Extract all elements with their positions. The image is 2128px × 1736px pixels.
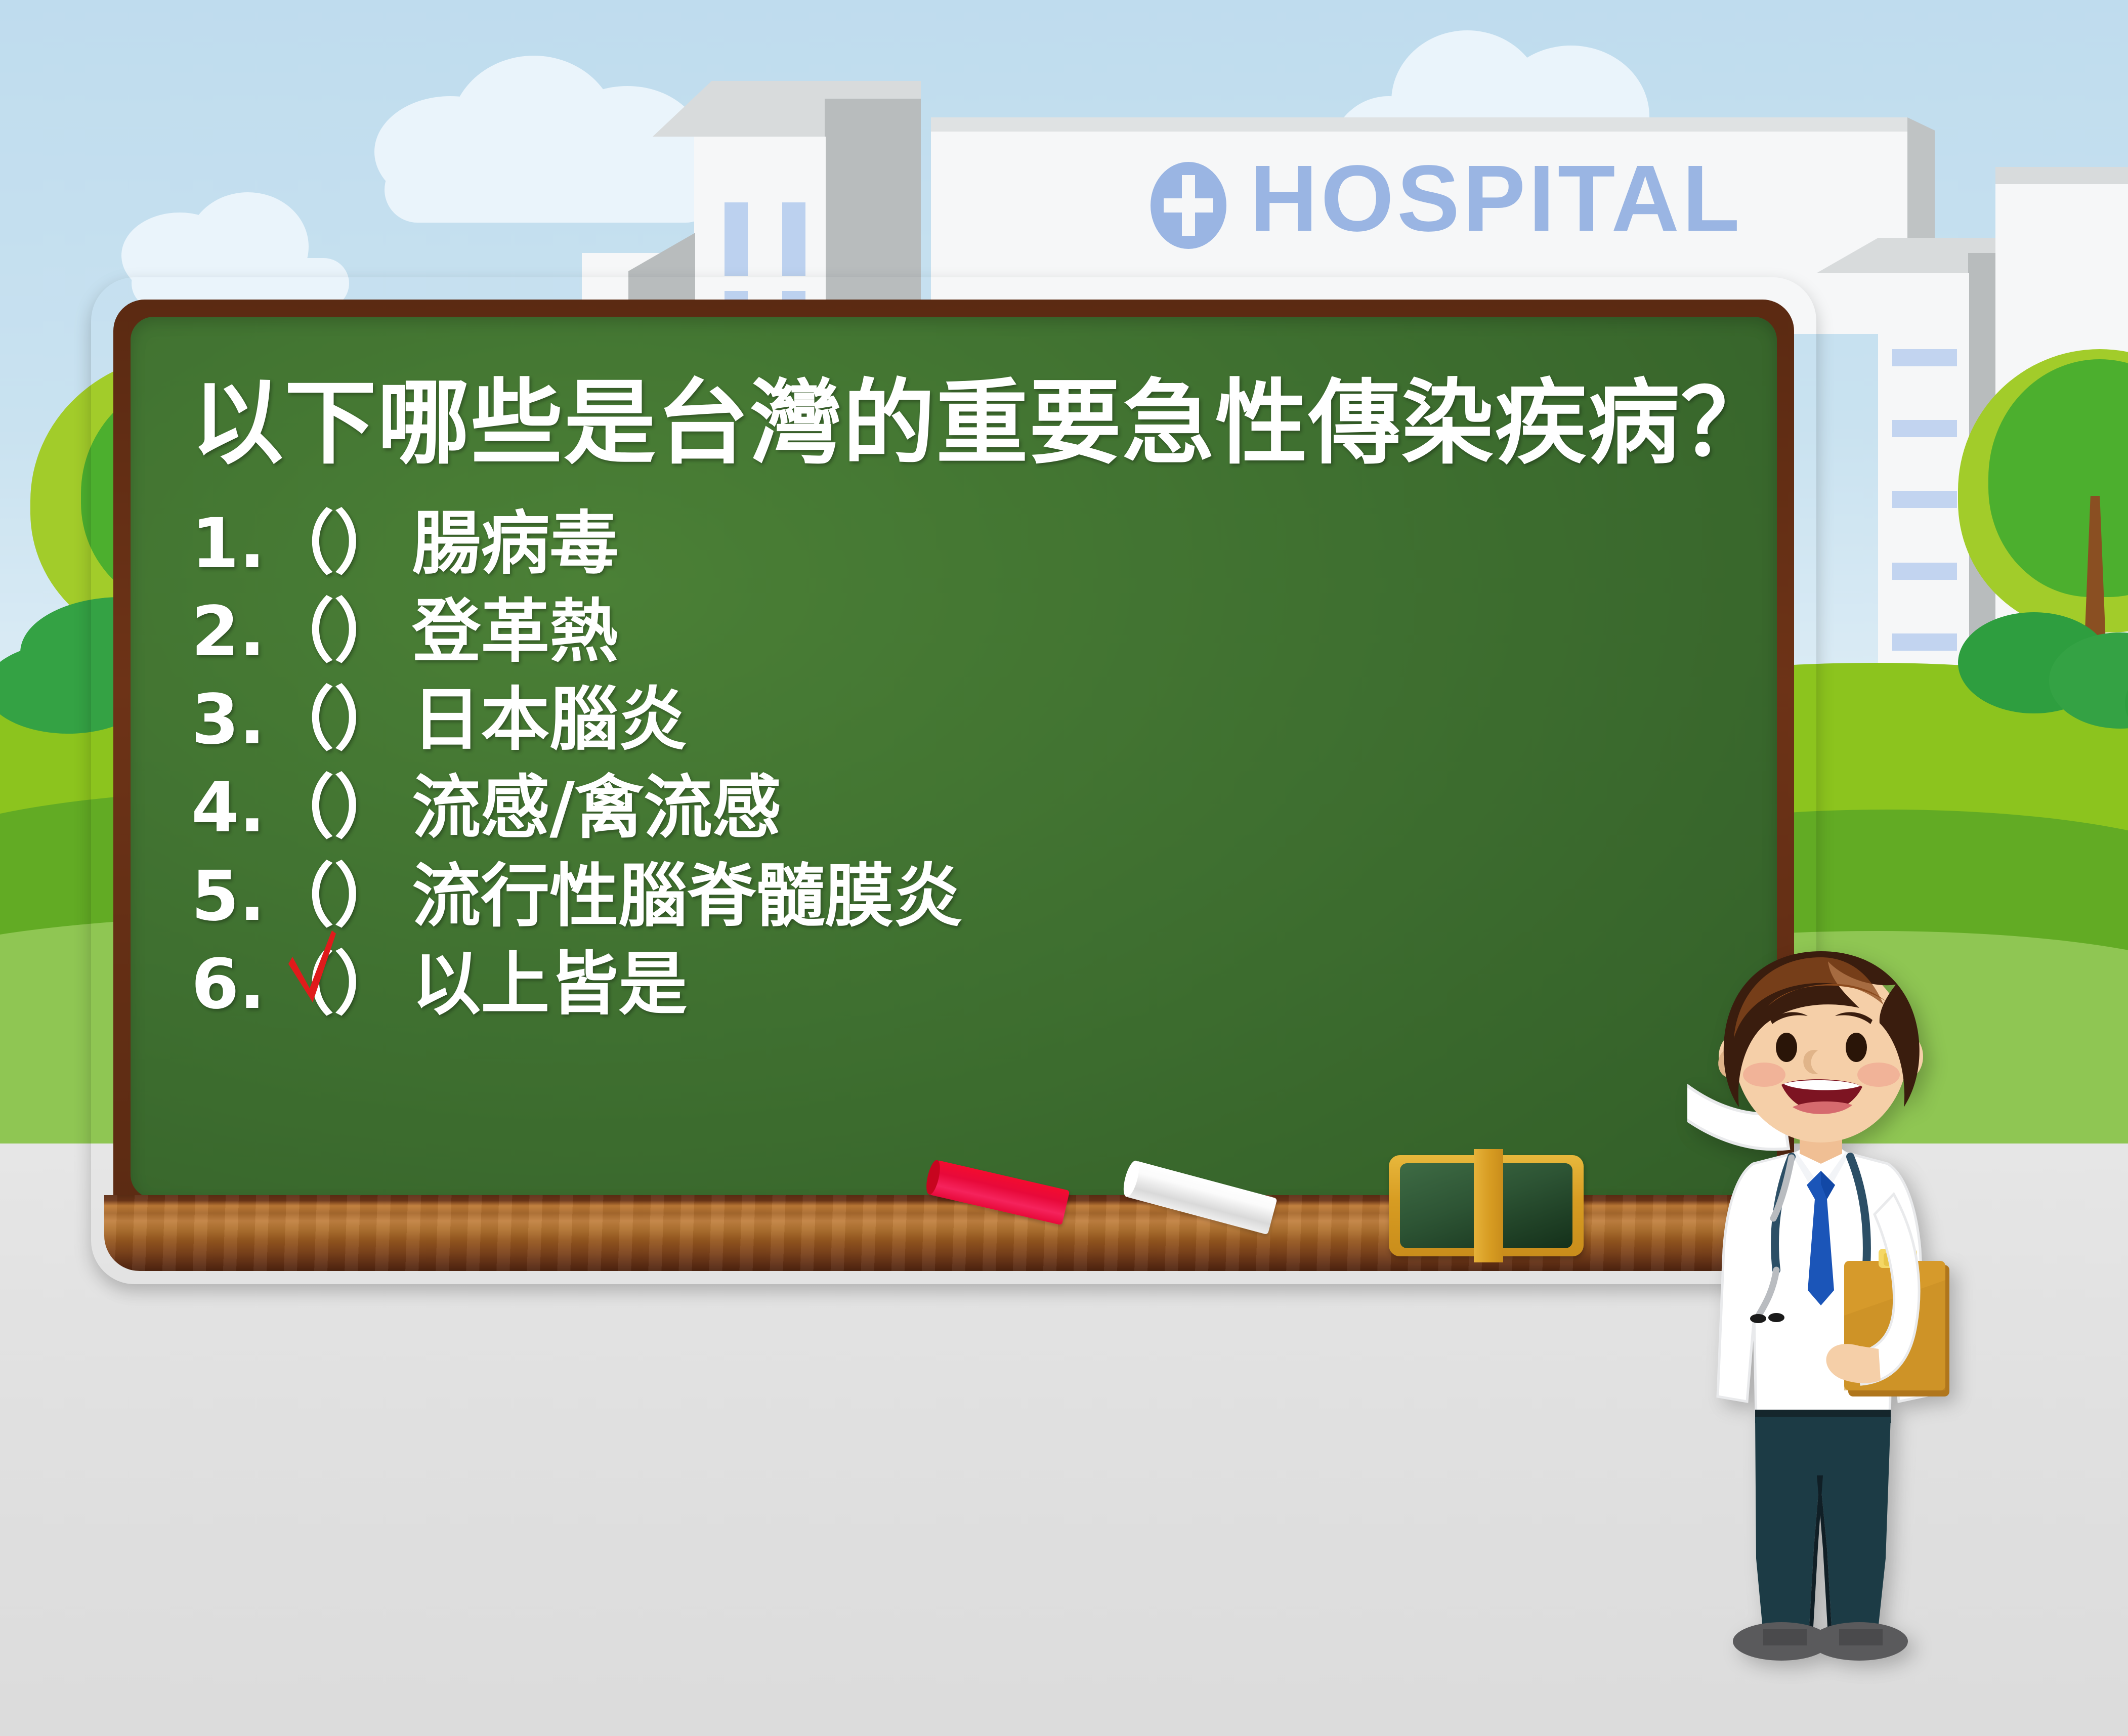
list-item[interactable]: 6. （） 以上皆是 (191, 941, 1747, 1029)
list-item[interactable]: 4. （） 流感/禽流感 (191, 764, 1747, 852)
chalkboard-surface: 以下哪些是台灣的重要急性傳染疾病？ 1. （） 腸病毒 2. (131, 317, 1777, 1198)
paren-open: （ (265, 680, 334, 760)
paren-close: ） (334, 768, 403, 848)
paren-close: ） (334, 857, 403, 937)
question-list: 1. （） 腸病毒 2. （） 登革熱 (191, 500, 1747, 1028)
paren-close: ） (334, 592, 403, 672)
item-number: 1. (191, 500, 265, 588)
item-number: 6. (191, 941, 265, 1029)
paren-open: （ (265, 592, 334, 672)
item-label: 日本腦炎 (403, 676, 687, 764)
paren-open: （ (265, 945, 334, 1025)
item-label: 流行性腦脊髓膜炎 (403, 853, 962, 941)
chalkboard-wood-frame: 以下哪些是台灣的重要急性傳染疾病？ 1. （） 腸病毒 2. (91, 277, 1816, 1284)
paren-close: ） (334, 945, 403, 1025)
list-item[interactable]: 1. （） 腸病毒 (191, 500, 1747, 588)
chalkboard-eraser[interactable] (1389, 1155, 1584, 1256)
chalkboard[interactable]: 以下哪些是台灣的重要急性傳染疾病？ 1. （） 腸病毒 2. (91, 277, 1816, 1284)
item-checkbox[interactable]: （） (265, 764, 403, 852)
list-item[interactable]: 3. （） 日本腦炎 (191, 676, 1747, 764)
paren-open: （ (265, 504, 334, 584)
list-item[interactable]: 5. （） 流行性腦脊髓膜炎 (191, 853, 1747, 941)
item-number: 5. (191, 853, 265, 941)
medical-cross-icon (1151, 162, 1226, 249)
doctor-character[interactable] (1687, 880, 1950, 1680)
chalkboard-content: 以下哪些是台灣的重要急性傳染疾病？ 1. （） 腸病毒 2. (191, 372, 1747, 1029)
item-checkbox[interactable]: （） (265, 676, 403, 764)
item-checkbox[interactable]: （） (265, 588, 403, 676)
paren-close: ） (334, 504, 403, 584)
item-checkbox[interactable]: （） (265, 853, 403, 941)
paren-close: ） (334, 680, 403, 760)
item-number: 4. (191, 764, 265, 852)
item-label: 登革熱 (403, 588, 618, 676)
item-label: 腸病毒 (403, 500, 618, 588)
item-label: 以上皆是 (403, 941, 687, 1029)
item-number: 2. (191, 588, 265, 676)
hospital-sign-top-edge (931, 117, 1907, 133)
item-number: 3. (191, 676, 265, 764)
scene-root: HOSPITAL (0, 0, 2128, 1736)
page-title: 以下哪些是台灣的重要急性傳染疾病？ (191, 372, 1747, 474)
hospital-sign-text: HOSPITAL (1250, 152, 1743, 246)
list-item[interactable]: 2. （） 登革熱 (191, 588, 1747, 676)
item-checkbox-selected[interactable]: （） (265, 941, 403, 1029)
paren-open: （ (265, 857, 334, 937)
item-label: 流感/禽流感 (403, 764, 781, 852)
paren-open: （ (265, 768, 334, 848)
item-checkbox[interactable]: （） (265, 500, 403, 588)
